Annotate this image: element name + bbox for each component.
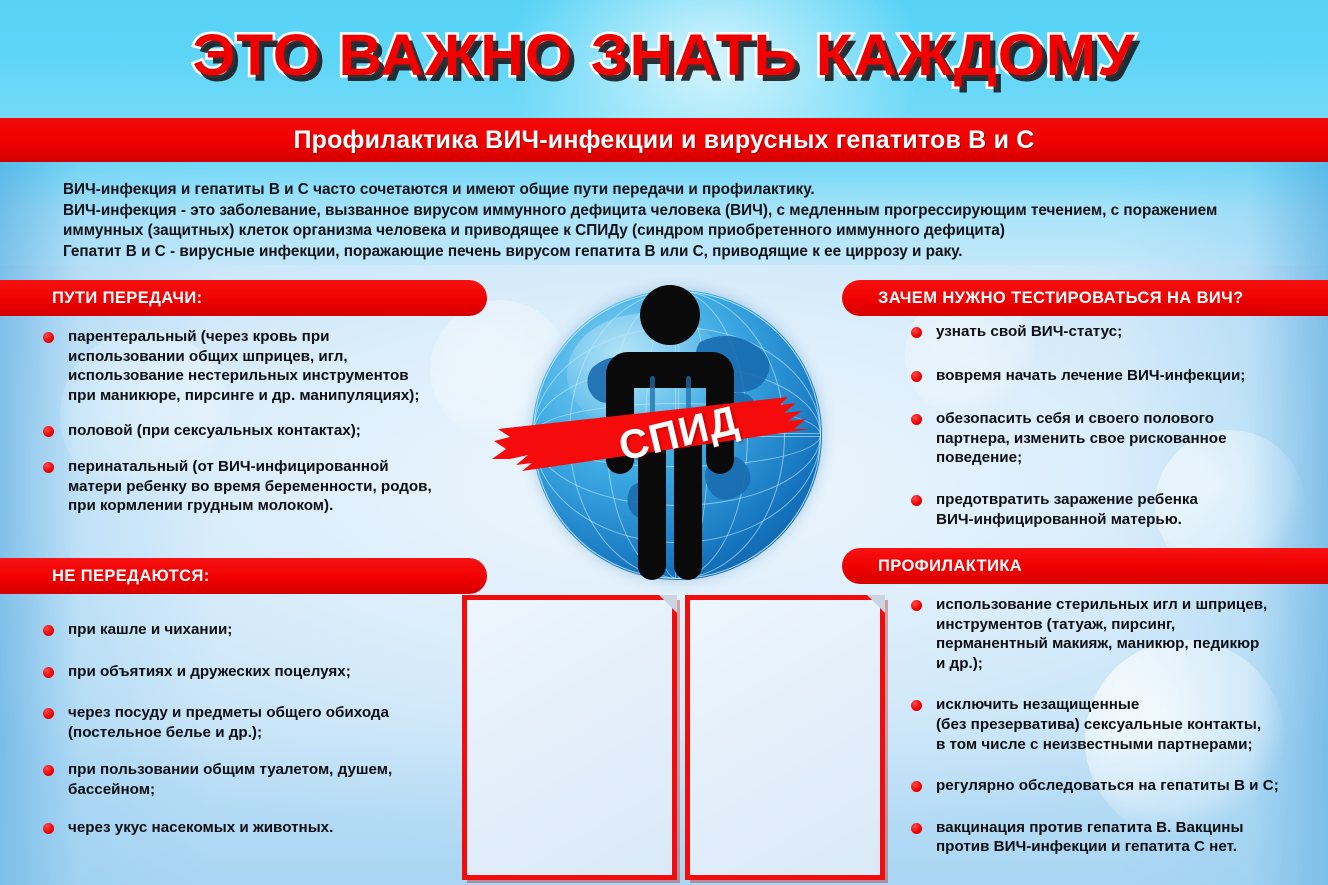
list-item: предотвратить заражение ребенка ВИЧ-инфи… bbox=[908, 490, 1318, 529]
section-header-transmission: ПУТИ ПЕРЕДАЧИ: bbox=[0, 280, 487, 316]
subtitle-bar: Профилактика ВИЧ-инфекции и вирусных геп… bbox=[0, 118, 1328, 162]
bullet-dot-icon bbox=[911, 600, 922, 611]
list-item: исключить незащищенные (без презерватива… bbox=[908, 695, 1323, 754]
bullet-dot-icon bbox=[43, 765, 54, 776]
section-header-not-transmitted-label: НЕ ПЕРЕДАЮТСЯ: bbox=[52, 567, 210, 586]
bullet-dot-icon bbox=[911, 781, 922, 792]
list-item: при пользовании общим туалетом, душем, б… bbox=[40, 760, 460, 799]
section-header-why-test: ЗАЧЕМ НУЖНО ТЕСТИРОВАТЬСЯ НА ВИЧ? bbox=[842, 280, 1328, 316]
list-item: узнать свой ВИЧ-статус; bbox=[908, 322, 1318, 342]
list-item-text: узнать свой ВИЧ-статус; bbox=[936, 322, 1318, 342]
list-item: вакцинация против гепатита В. Вакцины пр… bbox=[908, 818, 1323, 857]
section-header-why-test-label: ЗАЧЕМ НУЖНО ТЕСТИРОВАТЬСЯ НА ВИЧ? bbox=[878, 289, 1244, 308]
list-item: обезопасить себя и своего полового партн… bbox=[908, 409, 1318, 468]
intro-line-2: ВИЧ-инфекция - это заболевание, вызванно… bbox=[63, 201, 1283, 222]
list-item-text: обезопасить себя и своего полового партн… bbox=[936, 409, 1318, 468]
bullet-dot-icon bbox=[911, 823, 922, 834]
section-header-prevention-label: ПРОФИЛАКТИКА bbox=[878, 557, 1022, 576]
list-item: перинатальный (от ВИЧ-инфицированной мат… bbox=[40, 457, 460, 516]
list-item-text: предотвратить заражение ребенка ВИЧ-инфи… bbox=[936, 490, 1318, 529]
intro-line-3: иммунных (защитных) клеток организма чел… bbox=[63, 221, 1283, 242]
list-item-text: вакцинация против гепатита В. Вакцины пр… bbox=[936, 818, 1323, 857]
bullet-dot-icon bbox=[43, 462, 54, 473]
list-item-text: при пользовании общим туалетом, душем, б… bbox=[68, 760, 460, 799]
document-frame-left[interactable] bbox=[462, 595, 677, 880]
list-item-text: через укус насекомых и животных. bbox=[68, 818, 460, 838]
aids-ribbon-banner bbox=[488, 397, 856, 475]
bullet-dot-icon bbox=[911, 414, 922, 425]
list-item-text: использование стерильных игл и шприцев, … bbox=[936, 595, 1323, 673]
list-item: при кашле и чихании; bbox=[40, 620, 460, 640]
list-item: использование стерильных игл и шприцев, … bbox=[908, 595, 1323, 673]
bullet-dot-icon bbox=[43, 426, 54, 437]
intro-line-4: Гепатит В и С - вирусные инфекции, пораж… bbox=[63, 242, 1283, 263]
section-header-not-transmitted: НЕ ПЕРЕДАЮТСЯ: bbox=[0, 558, 487, 594]
page-title: ЭТО ВАЖНО ЗНАТЬ КАЖДОМУ bbox=[0, 22, 1328, 89]
list-not-transmitted: при кашле и чихании; при объятиях и друж… bbox=[40, 620, 460, 837]
list-item-text: вовремя начать лечение ВИЧ-инфекции; bbox=[936, 366, 1318, 386]
bullet-dot-icon bbox=[43, 708, 54, 719]
central-artwork: СПИД bbox=[500, 282, 840, 582]
list-item-text: перинатальный (от ВИЧ-инфицированной мат… bbox=[68, 457, 460, 516]
document-frame-right[interactable] bbox=[685, 595, 885, 880]
list-item: вовремя начать лечение ВИЧ-инфекции; bbox=[908, 366, 1318, 386]
subtitle-text: Профилактика ВИЧ-инфекции и вирусных геп… bbox=[293, 126, 1034, 155]
bullet-dot-icon bbox=[911, 495, 922, 506]
bullet-dot-icon bbox=[43, 625, 54, 636]
list-item-text: половой (при сексуальных контактах); bbox=[68, 421, 460, 441]
list-item-text: при объятиях и дружеских поцелуях; bbox=[68, 662, 460, 682]
list-item: половой (при сексуальных контактах); bbox=[40, 421, 460, 441]
bullet-dot-icon bbox=[43, 823, 54, 834]
bullet-dot-icon bbox=[911, 700, 922, 711]
poster-root: ЭТО ВАЖНО ЗНАТЬ КАЖДОМУ Профилактика ВИЧ… bbox=[0, 0, 1328, 885]
list-item: регулярно обследоваться на гепатиты В и … bbox=[908, 776, 1323, 796]
list-prevention: использование стерильных игл и шприцев, … bbox=[908, 595, 1323, 857]
list-why-test: узнать свой ВИЧ-статус; вовремя начать л… bbox=[908, 322, 1318, 529]
list-item: при объятиях и дружеских поцелуях; bbox=[40, 662, 460, 682]
section-header-prevention: ПРОФИЛАКТИКА bbox=[842, 548, 1328, 584]
list-transmission: парентеральный (через кровь при использо… bbox=[40, 327, 460, 516]
list-item-text: регулярно обследоваться на гепатиты В и … bbox=[936, 776, 1323, 796]
list-item: через посуду и предметы общего обихода (… bbox=[40, 703, 460, 742]
bullet-dot-icon bbox=[911, 327, 922, 338]
bullet-dot-icon bbox=[911, 371, 922, 382]
list-item-text: исключить незащищенные (без презерватива… bbox=[936, 695, 1323, 754]
intro-line-1: ВИЧ-инфекция и гепатиты В и С часто соче… bbox=[63, 180, 1283, 201]
list-item: парентеральный (через кровь при использо… bbox=[40, 327, 460, 405]
list-item-text: через посуду и предметы общего обихода (… bbox=[68, 703, 460, 742]
intro-paragraph: ВИЧ-инфекция и гепатиты В и С часто соче… bbox=[63, 180, 1283, 262]
list-item: через укус насекомых и животных. bbox=[40, 818, 460, 838]
bullet-dot-icon bbox=[43, 667, 54, 678]
list-item-text: парентеральный (через кровь при использо… bbox=[68, 327, 460, 405]
bullet-dot-icon bbox=[43, 332, 54, 343]
list-item-text: при кашле и чихании; bbox=[68, 620, 460, 640]
section-header-transmission-label: ПУТИ ПЕРЕДАЧИ: bbox=[52, 289, 202, 308]
